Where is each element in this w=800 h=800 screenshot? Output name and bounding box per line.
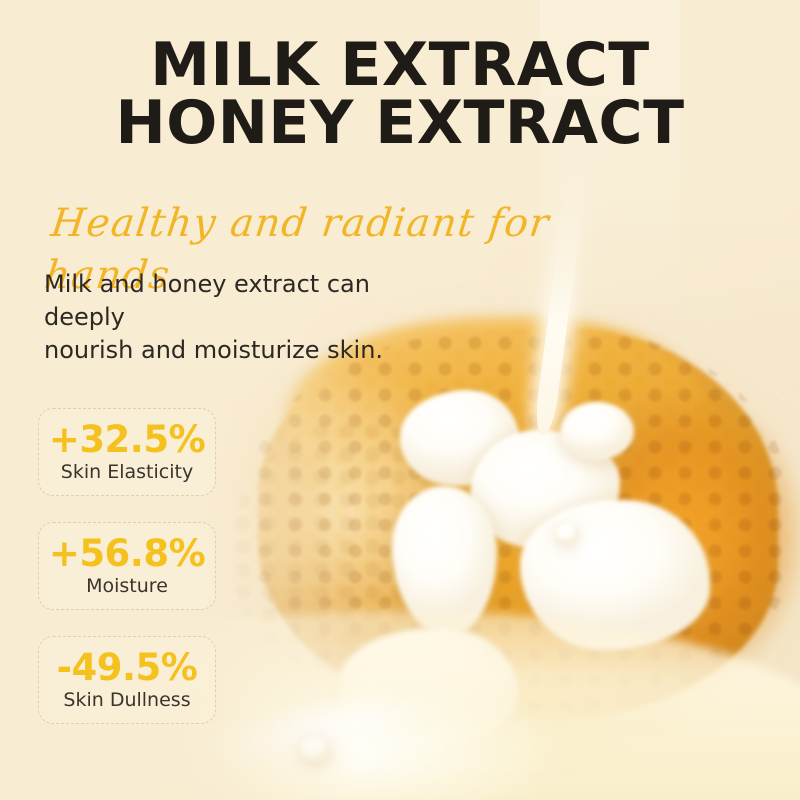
body-description: Milk and honey extract can deeply nouris… [44, 268, 444, 367]
page-title: MILK EXTRACT HONEY EXTRACT [0, 36, 800, 152]
stat-badge-skin-dullness: -49.5% Skin Dullness [38, 636, 216, 724]
product-benefit-poster: MILK EXTRACT HONEY EXTRACT Healthy and r… [0, 0, 800, 800]
stat-label: Skin Elasticity [61, 461, 193, 484]
stat-label: Skin Dullness [63, 689, 190, 712]
stat-value: +56.8% [49, 534, 205, 574]
stat-label: Moisture [86, 575, 168, 598]
stat-badge-skin-elasticity: +32.5% Skin Elasticity [38, 408, 216, 496]
stat-value: -49.5% [57, 648, 198, 688]
stat-value: +32.5% [49, 420, 205, 460]
stat-badge-moisture: +56.8% Moisture [38, 522, 216, 610]
milk-droplet [556, 524, 578, 544]
stat-badge-list: +32.5% Skin Elasticity +56.8% Moisture -… [38, 408, 216, 750]
